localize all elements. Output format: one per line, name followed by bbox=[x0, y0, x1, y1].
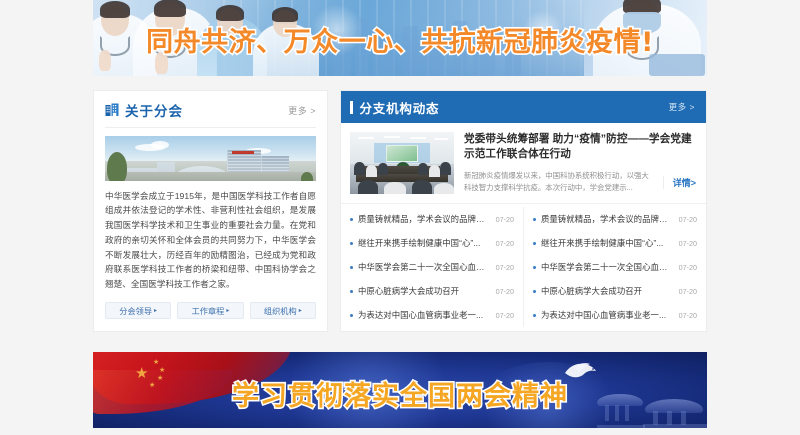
news-item-date: 07-20 bbox=[496, 263, 514, 272]
news-list-item[interactable]: 质量铸就精品，学术会议的品牌发... 07-20 bbox=[533, 212, 697, 227]
building-icon bbox=[105, 103, 119, 117]
news-list-item[interactable]: 继往开来携手绘制健康中国“心”... 07-20 bbox=[350, 236, 514, 251]
nurse-hair bbox=[216, 5, 244, 21]
thumb-projection-screen bbox=[386, 145, 418, 162]
news-item-date: 07-20 bbox=[496, 239, 514, 248]
tag-button-leaders[interactable]: 分会领导 ▸ bbox=[105, 302, 171, 319]
about-card-body: 中华医学会成立于1915年，是中国医学科技工作者自愿组成并依法登记的学术性、非营… bbox=[105, 189, 316, 292]
news-card-header: 分支机构动态 更多 > bbox=[341, 91, 706, 123]
news-item-title: 继往开来携手绘制健康中国“心”... bbox=[541, 237, 674, 249]
photo-ground bbox=[105, 172, 316, 181]
thumb-attendee bbox=[378, 163, 388, 175]
news-item-title: 继往开来携手绘制健康中国“心”... bbox=[358, 237, 491, 249]
flag-star-icon: ★ bbox=[159, 366, 165, 374]
thumb-ceiling-light bbox=[410, 137, 426, 139]
flag-star-icon: ★ bbox=[153, 358, 159, 366]
photo-tree bbox=[301, 172, 313, 181]
news-item-date: 07-20 bbox=[496, 311, 514, 320]
news-list-item[interactable]: 为表达对中国心血管病事业老一... 07-20 bbox=[350, 308, 514, 323]
featured-news-title: 党委带头统筹部署 助力“疫情”防控——学会党建示范工作联合体在行动 bbox=[464, 132, 696, 163]
about-card-title: 关于分会 bbox=[125, 100, 183, 120]
thumb-attendee bbox=[354, 162, 365, 175]
bullet-icon bbox=[533, 242, 536, 245]
featured-news-thumbnail bbox=[350, 132, 454, 194]
thumb-attendee-front bbox=[358, 180, 378, 194]
bullet-icon bbox=[350, 242, 353, 245]
thumb-attendee bbox=[440, 162, 451, 175]
tag-button-charter[interactable]: 工作章程 ▸ bbox=[177, 302, 243, 319]
news-card-title: 分支机构动态 bbox=[360, 98, 440, 117]
about-card-title-group: 关于分会 bbox=[105, 100, 183, 120]
news-item-date: 07-20 bbox=[679, 311, 697, 320]
news-item-date: 07-20 bbox=[679, 287, 697, 296]
featured-news-item[interactable]: 党委带头统筹部署 助力“疫情”防控——学会党建示范工作联合体在行动 新冠肺炎疫情… bbox=[341, 123, 706, 204]
news-item-date: 07-20 bbox=[679, 215, 697, 224]
news-card: 分支机构动态 更多 > bbox=[340, 90, 707, 332]
about-card-tags: 分会领导 ▸ 工作章程 ▸ 组织机构 ▸ bbox=[105, 292, 316, 331]
news-column-left: 质量铸就精品，学术会议的品牌发... 07-20 继往开来携手绘制健康中国“心”… bbox=[341, 207, 523, 327]
top-banner[interactable]: 同舟共济、万众一心、共抗新冠肺炎疫情! bbox=[93, 0, 707, 76]
news-list-item[interactable]: 质量铸就精品，学术会议的品牌发... 07-20 bbox=[350, 212, 514, 227]
thumb-attendee-front bbox=[434, 183, 454, 194]
news-list-item[interactable]: 中华医学会第二十一次全国心血管... 07-20 bbox=[533, 260, 697, 275]
page-root: 同舟共济、万众一心、共抗新冠肺炎疫情! bbox=[0, 0, 800, 435]
about-more-link[interactable]: 更多 > bbox=[288, 104, 316, 117]
temple-column bbox=[653, 411, 658, 425]
news-item-title: 中原心脏病学大会成功召开 bbox=[358, 285, 491, 297]
news-item-title: 为表达对中国心血管病事业老一... bbox=[541, 309, 674, 321]
news-list-item[interactable]: 中原心脏病学大会成功召开 07-20 bbox=[350, 284, 514, 299]
news-column-right: 质量铸就精品，学术会议的品牌发... 07-20 继往开来携手绘制健康中国“心”… bbox=[523, 207, 706, 327]
top-banner-slogan: 同舟共济、万众一心、共抗新冠肺炎疫情! bbox=[93, 20, 707, 59]
temple-base bbox=[597, 425, 645, 428]
featured-news-detail-link[interactable]: 详情> bbox=[663, 176, 696, 189]
doctor-hair bbox=[100, 1, 130, 18]
featured-news-summary: 新冠肺炎疫情爆发以来，中国科协系统积极行动，以强大科技智力支撑科学抗疫。本次行动… bbox=[464, 170, 655, 194]
temple-column bbox=[667, 411, 672, 425]
news-item-date: 07-20 bbox=[496, 215, 514, 224]
news-item-title: 质量铸就精品，学术会议的品牌发... bbox=[358, 213, 491, 225]
news-list-item[interactable]: 继往开来携手绘制健康中国“心”... 07-20 bbox=[533, 236, 697, 251]
bullet-icon bbox=[533, 218, 536, 221]
news-item-title: 中华医学会第二十一次全国心血管... bbox=[358, 261, 491, 273]
bullet-icon bbox=[350, 218, 353, 221]
news-list-item[interactable]: 中原心脏病学大会成功召开 07-20 bbox=[533, 284, 697, 299]
thumb-attendee bbox=[366, 165, 377, 177]
tag-button-organization[interactable]: 组织机构 ▸ bbox=[250, 302, 316, 319]
news-item-title: 中原心脏病学大会成功召开 bbox=[541, 285, 674, 297]
thumb-ceiling-light bbox=[434, 138, 448, 140]
news-item-title: 质量铸就精品，学术会议的品牌发... bbox=[541, 213, 674, 225]
news-item-title: 中华医学会第二十一次全国心血管... bbox=[541, 261, 674, 273]
news-card-title-group: 分支机构动态 bbox=[350, 98, 439, 117]
thumb-attendee bbox=[429, 165, 440, 177]
doctor-hair bbox=[154, 0, 186, 17]
title-accent-bar bbox=[350, 101, 353, 114]
temple-column bbox=[681, 411, 686, 425]
thumb-attendee-front bbox=[412, 180, 432, 194]
photo-tree bbox=[107, 152, 127, 181]
bullet-icon bbox=[350, 314, 353, 317]
temple-base bbox=[643, 424, 707, 428]
photo-red-signage bbox=[232, 151, 254, 154]
bullet-icon bbox=[350, 290, 353, 293]
main-content: 关于分会 更多 > 中华医学会成立于1915年，是中国医 bbox=[93, 90, 707, 332]
bullet-icon bbox=[533, 314, 536, 317]
caret-right-icon: ▸ bbox=[299, 307, 302, 314]
thumb-ceiling-light bbox=[384, 136, 400, 138]
tag-label: 分会领导 bbox=[119, 305, 152, 317]
caret-right-icon: ▸ bbox=[226, 307, 229, 314]
news-item-title: 为表达对中国心血管病事业老一... bbox=[358, 309, 491, 321]
about-card-header: 关于分会 更多 > bbox=[105, 100, 316, 128]
tag-label: 工作章程 bbox=[192, 305, 225, 317]
caret-right-icon: ▸ bbox=[154, 307, 157, 314]
news-item-date: 07-20 bbox=[496, 287, 514, 296]
news-list-item[interactable]: 中华医学会第二十一次全国心血管... 07-20 bbox=[350, 260, 514, 275]
news-item-date: 07-20 bbox=[679, 239, 697, 248]
about-card: 关于分会 更多 > 中华医学会成立于1915年，是中国医 bbox=[93, 90, 328, 332]
photo-cloud bbox=[151, 141, 169, 149]
featured-news-text: 党委带头统筹部署 助力“疫情”防控——学会党建示范工作联合体在行动 新冠肺炎疫情… bbox=[464, 132, 696, 194]
news-list-item[interactable]: 为表达对中国心血管病事业老一... 07-20 bbox=[533, 308, 697, 323]
tag-label: 组织机构 bbox=[264, 305, 297, 317]
bullet-icon bbox=[350, 266, 353, 269]
thumb-attendee bbox=[418, 163, 428, 175]
bottom-banner-slogan: 学习贯彻落实全国两会精神 bbox=[93, 374, 707, 413]
news-more-link[interactable]: 更多 > bbox=[669, 101, 695, 113]
about-card-photo bbox=[105, 136, 316, 181]
thumb-attendee-front bbox=[384, 182, 406, 194]
news-lists: 质量铸就精品，学术会议的品牌发... 07-20 继往开来携手绘制健康中国“心”… bbox=[341, 204, 706, 331]
bottom-banner[interactable]: ★ ★ ★ ★ ★ 学习贯彻落实全国两会精神 bbox=[93, 352, 707, 428]
featured-news-bottom: 新冠肺炎疫情爆发以来，中国科协系统积极行动，以强大科技智力支撑科学抗疫。本次行动… bbox=[464, 170, 696, 194]
news-item-date: 07-20 bbox=[679, 263, 697, 272]
bullet-icon bbox=[533, 266, 536, 269]
thumb-ceiling-light bbox=[358, 137, 374, 139]
bullet-icon bbox=[533, 290, 536, 293]
